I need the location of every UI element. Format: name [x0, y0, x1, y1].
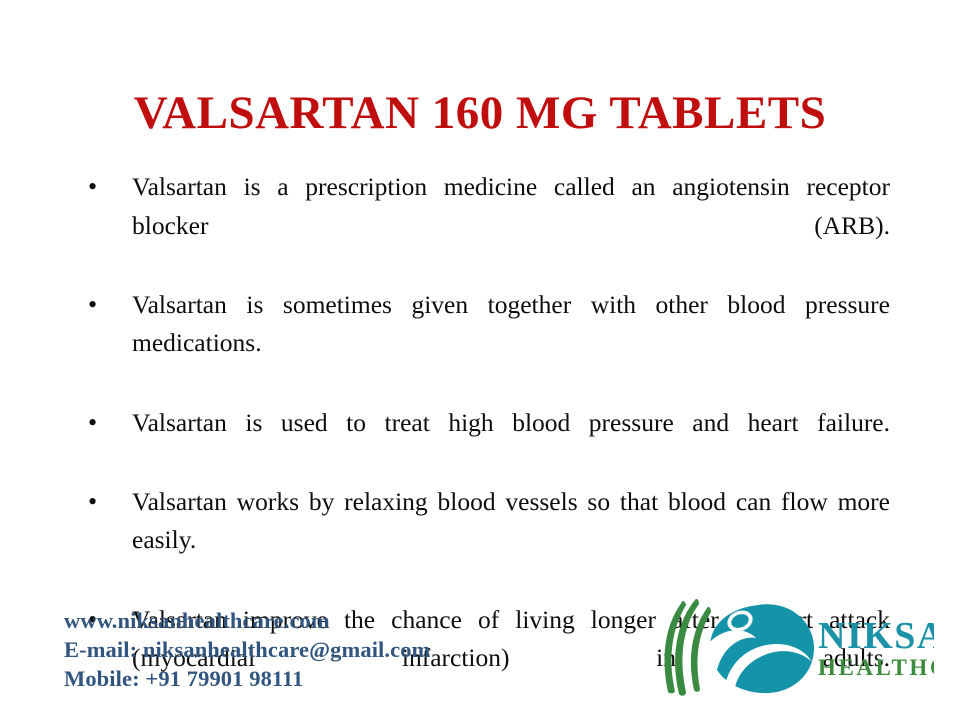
bullet-point-icon: •	[88, 168, 102, 207]
leaf-swoosh-icon	[664, 599, 711, 696]
list-item: • Valsartan is used to treat high blood …	[78, 404, 890, 481]
list-item-text: Valsartan works by relaxing blood vessel…	[132, 483, 890, 599]
website-link[interactable]: www.niksanhealthcare.com	[64, 606, 430, 635]
logo-brand-name: NIKSAN	[818, 615, 934, 657]
list-item: • Valsartan is sometimes given together …	[78, 286, 890, 402]
logo-brand-tagline: HEALTHCARE	[818, 655, 934, 680]
list-item-text: Valsartan is a prescription medicine cal…	[132, 168, 890, 284]
slide-canvas: VALSARTAN 160 MG TABLETS • Valsartan is …	[0, 0, 960, 720]
globe-figure-icon	[707, 604, 814, 696]
bullet-point-icon: •	[88, 286, 102, 325]
bullet-point-icon: •	[88, 404, 102, 443]
logo-artwork: NIKSAN HEALTHCARE	[648, 596, 934, 700]
list-item-text: Valsartan is sometimes given together wi…	[132, 286, 890, 402]
company-logo: NIKSAN HEALTHCARE	[648, 596, 934, 700]
email-link[interactable]: E-mail: niksanhealthcare@gmail.com	[64, 635, 430, 664]
list-item: • Valsartan is a prescription medicine c…	[78, 168, 890, 284]
bullet-point-icon: •	[88, 483, 102, 522]
contact-info-block: www.niksanhealthcare.com E-mail: niksanh…	[64, 606, 430, 693]
mobile-number: Mobile: +91 79901 98111	[64, 664, 430, 693]
list-item: • Valsartan works by relaxing blood vess…	[78, 483, 890, 599]
page-title: VALSARTAN 160 MG TABLETS	[0, 88, 960, 139]
list-item-text: Valsartan is used to treat high blood pr…	[132, 404, 890, 481]
